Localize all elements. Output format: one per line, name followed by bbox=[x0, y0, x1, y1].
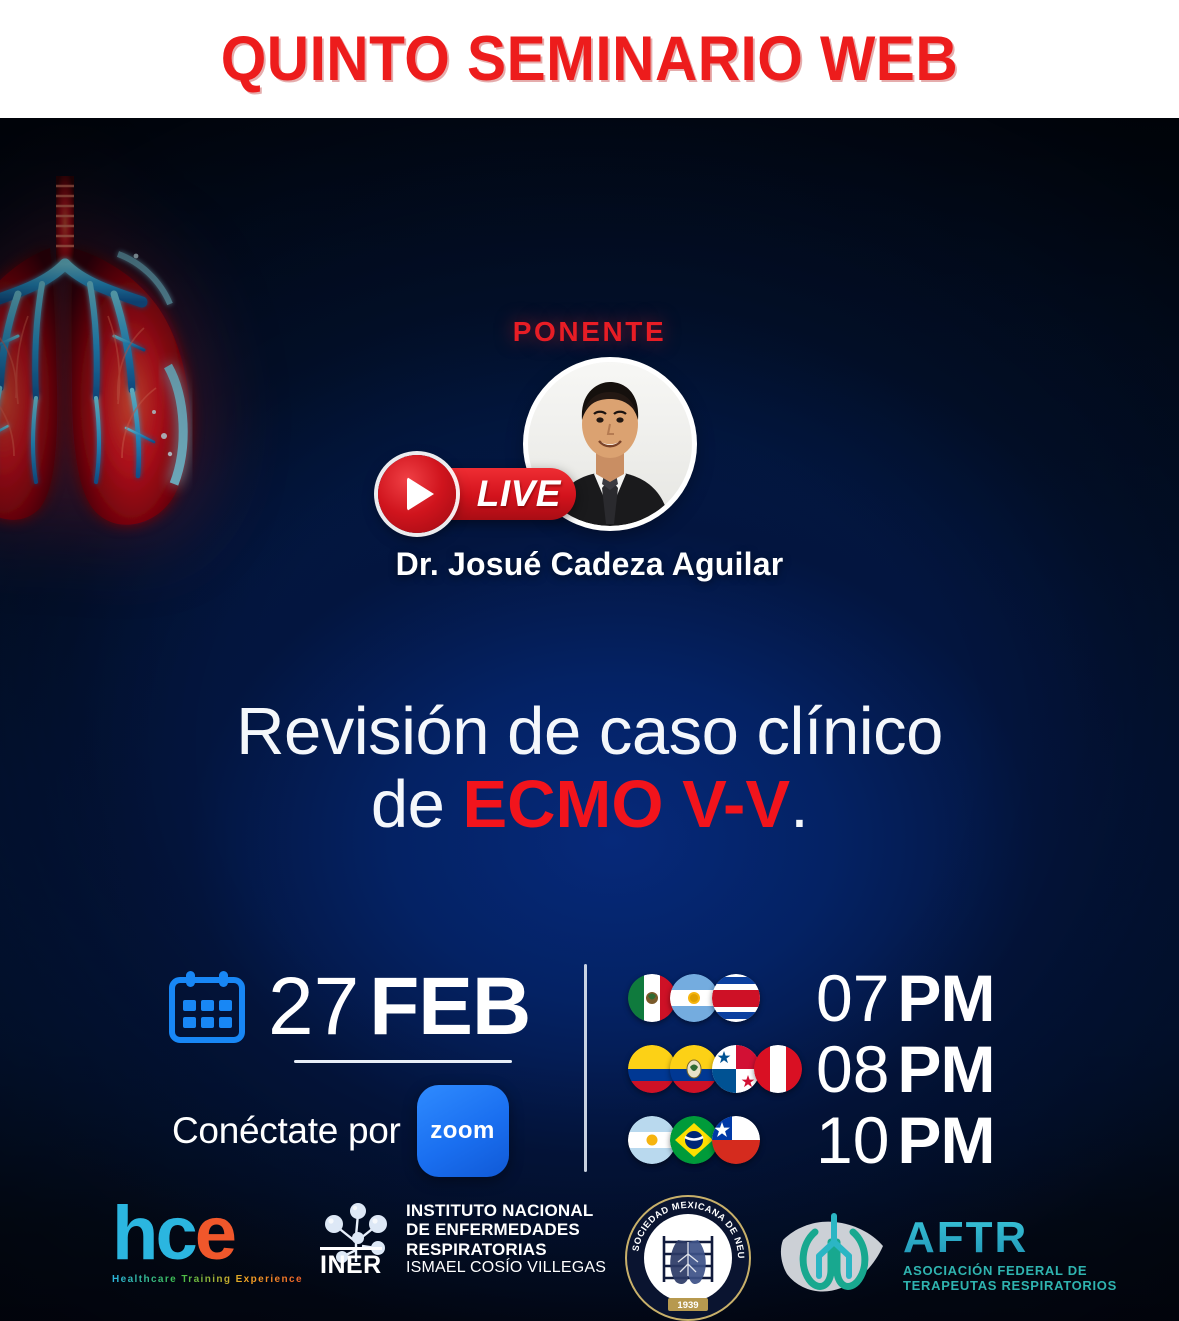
schedule-time: 07 PM bbox=[816, 965, 994, 1031]
title-line-1: Revisión de caso clínico bbox=[0, 696, 1179, 767]
date-column: 27 FEB Conéctate por zoom bbox=[168, 966, 568, 1177]
page-title: QUINTO SEMINARIO WEB bbox=[221, 23, 958, 95]
aftr-lungs-map-icon bbox=[775, 1202, 893, 1306]
hce-letter-e: e bbox=[195, 1191, 234, 1276]
speaker-name: Dr. Josué Cadeza Aguilar bbox=[0, 546, 1179, 583]
logo-aftr: AFTR ASOCIACIÓN FEDERAL DE TERAPEUTAS RE… bbox=[775, 1202, 1117, 1306]
poster-body: PONENTE bbox=[0, 118, 1179, 1321]
play-icon bbox=[378, 455, 456, 533]
aftr-name-block: AFTR ASOCIACIÓN FEDERAL DE TERAPEUTAS RE… bbox=[903, 1215, 1117, 1293]
calendar-icon bbox=[168, 970, 246, 1044]
flag-group bbox=[628, 974, 808, 1022]
event-date: 27 FEB bbox=[268, 966, 530, 1048]
flag-colombia bbox=[628, 1045, 676, 1093]
iner-line-4: ISMAEL COSÍO VILLEGAS bbox=[406, 1259, 606, 1277]
flag-costa-rica bbox=[712, 974, 760, 1022]
event-info-row: 27 FEB Conéctate por zoom bbox=[0, 956, 1179, 1182]
title-prefix: de bbox=[371, 767, 463, 842]
logo-smnyct: SOCIEDAD MEXICANA DE NEUMOLOGÍA Y CIRUGÍ… bbox=[620, 1190, 756, 1321]
zoom-wordmark: zoom bbox=[430, 1117, 495, 1145]
iner-line-1: INSTITUTO NACIONAL bbox=[406, 1201, 606, 1220]
iner-name: INSTITUTO NACIONAL DE ENFERMEDADES RESPI… bbox=[406, 1201, 606, 1277]
schedule-time: 10 PM bbox=[816, 1107, 994, 1173]
smnyct-year: 1939 bbox=[677, 1300, 698, 1311]
flag-ecuador bbox=[670, 1045, 718, 1093]
iner-line-2: DE ENFERMEDADES bbox=[406, 1220, 606, 1239]
hce-wordmark: hce bbox=[112, 1196, 312, 1272]
title-line-2: de ECMO V-V. bbox=[0, 767, 1179, 842]
schedule-row: 07 PM bbox=[628, 962, 1068, 1033]
flag-panama bbox=[712, 1045, 760, 1093]
schedule-column: 07 PM bbox=[628, 962, 1068, 1175]
hce-tagline: Healthcare Training Experience bbox=[112, 1274, 312, 1285]
vertical-divider bbox=[584, 964, 587, 1172]
sponsor-logos: hce Healthcare Training Experience bbox=[0, 1188, 1179, 1321]
logo-iner: INER INSTITUTO NACIONAL DE ENFERMEDADES … bbox=[318, 1200, 606, 1278]
connect-label: Conéctate por bbox=[172, 1110, 401, 1152]
live-badge: LIVE bbox=[378, 455, 582, 533]
flag-group bbox=[628, 1045, 808, 1093]
title-suffix: . bbox=[790, 767, 808, 842]
time-number: 08 bbox=[816, 1036, 889, 1102]
time-number: 07 bbox=[816, 965, 889, 1031]
time-meridiem: PM bbox=[897, 1036, 994, 1102]
hce-letter-c: c bbox=[155, 1191, 194, 1276]
schedule-row: 08 PM bbox=[628, 1033, 1068, 1104]
aftr-sub-line-1: ASOCIACIÓN FEDERAL DE bbox=[903, 1264, 1117, 1278]
flag-peru bbox=[754, 1045, 802, 1093]
date-divider bbox=[294, 1060, 512, 1063]
flag-argentina bbox=[628, 1116, 676, 1164]
platform-line: Conéctate por zoom bbox=[172, 1085, 568, 1177]
iner-molecule-icon: INER bbox=[318, 1200, 394, 1278]
logo-hce: hce Healthcare Training Experience bbox=[112, 1196, 312, 1285]
webinar-poster: QUINTO SEMINARIO WEB bbox=[0, 0, 1179, 1321]
flag-group bbox=[628, 1116, 808, 1164]
time-meridiem: PM bbox=[897, 1107, 994, 1173]
flag-chile bbox=[712, 1116, 760, 1164]
flag-argentina bbox=[670, 974, 718, 1022]
aftr-sub-line-2: TERAPEUTAS RESPIRATORIOS bbox=[903, 1279, 1117, 1293]
iner-acronym: INER bbox=[320, 1247, 382, 1280]
time-number: 10 bbox=[816, 1107, 889, 1173]
date-day: 27 bbox=[268, 966, 359, 1048]
iner-line-3: RESPIRATORIAS bbox=[406, 1240, 606, 1259]
speaker-label: PONENTE bbox=[0, 316, 1179, 348]
date-line: 27 FEB bbox=[168, 966, 568, 1048]
zoom-logo[interactable]: zoom bbox=[417, 1085, 509, 1177]
schedule-time: 08 PM bbox=[816, 1036, 994, 1102]
aftr-acronym: AFTR bbox=[903, 1215, 1117, 1262]
header-band: QUINTO SEMINARIO WEB bbox=[0, 0, 1179, 118]
flag-brazil bbox=[670, 1116, 718, 1164]
event-title: Revisión de caso clínico de ECMO V-V. bbox=[0, 696, 1179, 842]
date-month: FEB bbox=[369, 966, 530, 1048]
title-accent: ECMO V-V bbox=[462, 767, 790, 842]
schedule-row: 10 PM bbox=[628, 1104, 1068, 1175]
time-meridiem: PM bbox=[897, 965, 994, 1031]
flag-mexico bbox=[628, 974, 676, 1022]
hce-letter-h: h bbox=[112, 1191, 155, 1276]
